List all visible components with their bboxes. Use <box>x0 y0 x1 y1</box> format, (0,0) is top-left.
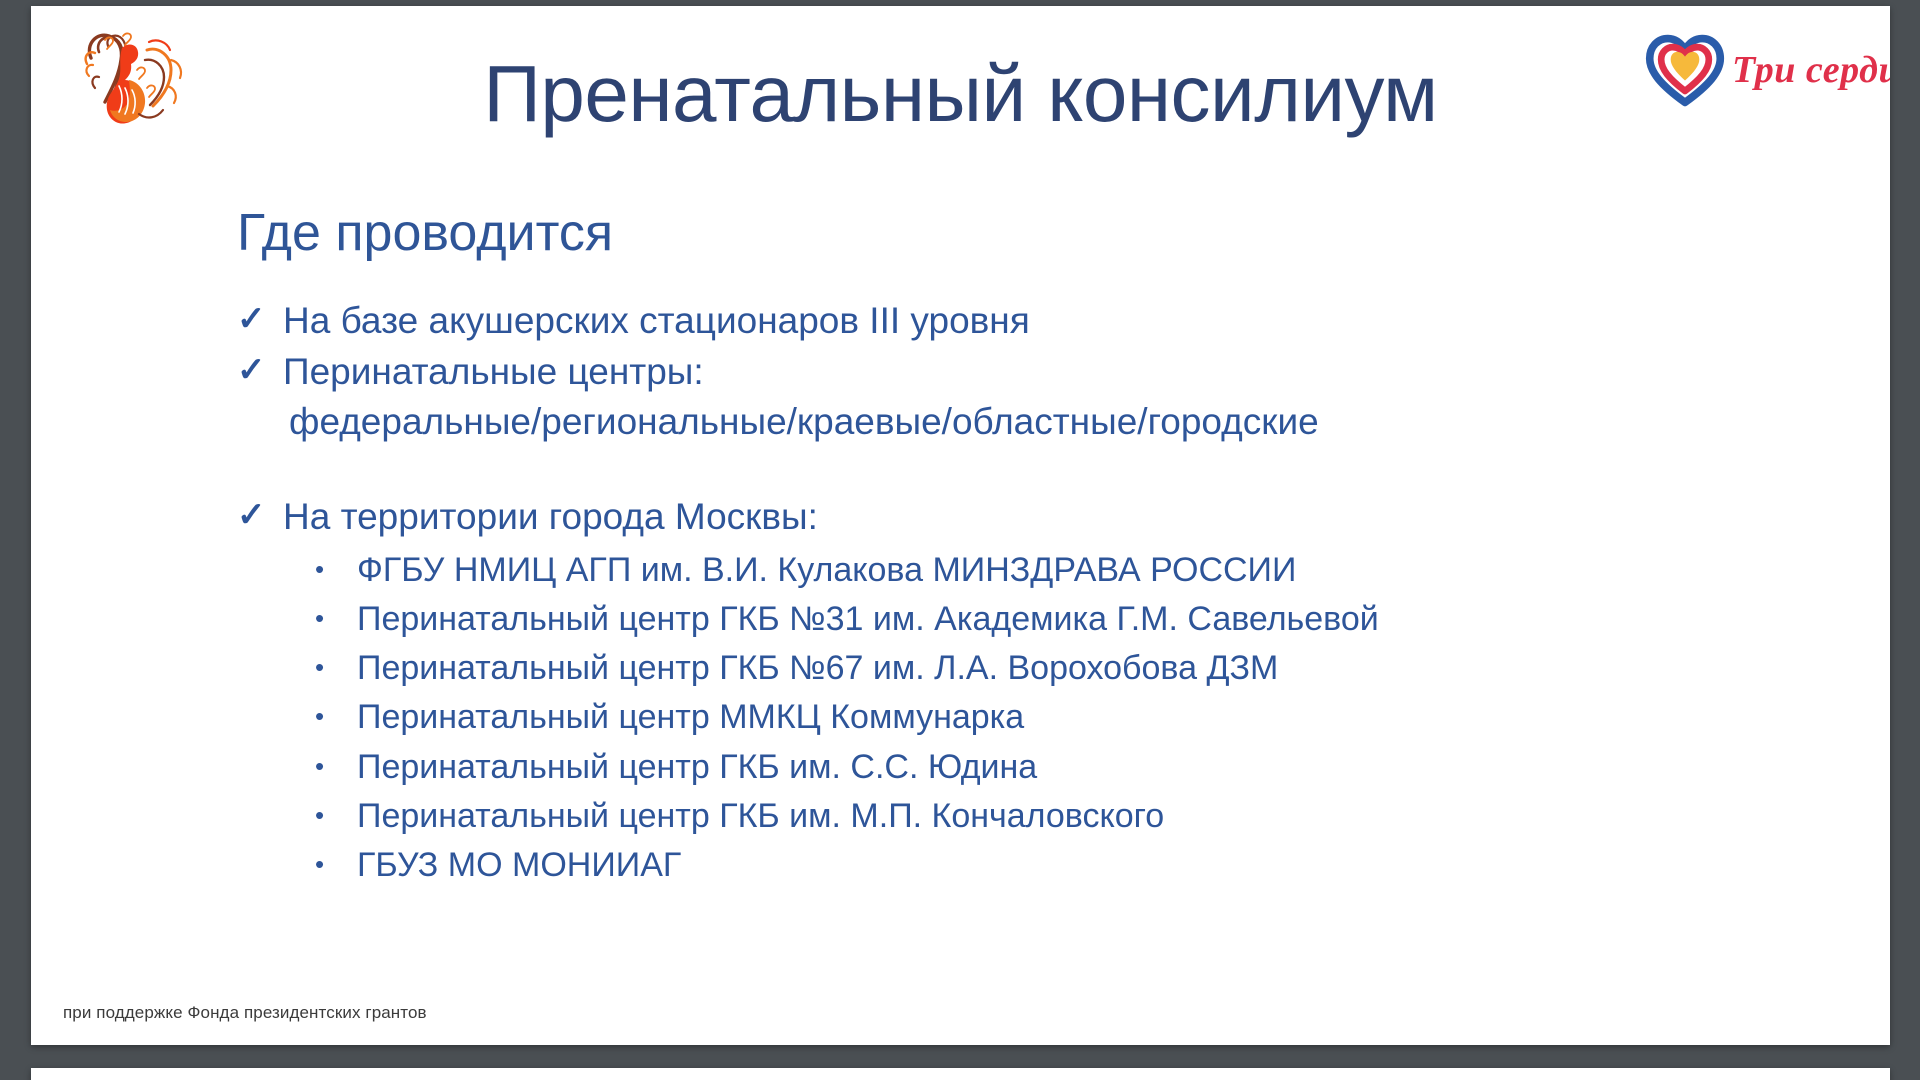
list-item: • ГБУЗ МО МОНИИАГ <box>237 842 1797 888</box>
slide-body: Где проводится ✓ На базе акушерских стац… <box>237 204 1797 891</box>
slide-viewer[interactable]: Три сердца Пренатальный консилиум Где пр… <box>0 0 1920 1080</box>
list-item: • Перинатальный центр ММКЦ Коммунарка <box>237 694 1797 740</box>
moscow-block: ✓ На территории города Москвы: • ФГБУ НМ… <box>237 494 1797 888</box>
list-item: ✓ На территории города Москвы: <box>237 494 1797 541</box>
moscow-institution-list: • ФГБУ НМИЦ АГП им. В.И. Кулакова МИНЗДР… <box>237 547 1797 889</box>
bullet-dot-icon: • <box>315 793 357 837</box>
section-heading: Где проводится <box>237 204 1797 262</box>
page-title: Пренатальный консилиум <box>31 52 1890 136</box>
list-item-label: Перинатальные центры: <box>283 349 1797 396</box>
list-item: • Перинатальный центр ГКБ им. С.С. Юдина <box>237 744 1797 790</box>
list-item-label: Перинатальный центр ГКБ №67 им. Л.А. Вор… <box>357 645 1797 691</box>
slide-footer: при поддержке Фонда президентских гранто… <box>63 1003 427 1023</box>
list-item: ✓ Перинатальные центры: <box>237 349 1797 396</box>
list-item-label: Перинатальный центр ММКЦ Коммунарка <box>357 694 1797 740</box>
list-item: • Перинатальный центр ГКБ №67 им. Л.А. В… <box>237 645 1797 691</box>
bullet-dot-icon: • <box>315 596 357 640</box>
list-item: • Перинатальный центр ГКБ им. М.П. Конча… <box>237 793 1797 839</box>
list-item-label: ГБУЗ МО МОНИИАГ <box>357 842 1797 888</box>
moscow-check-list: ✓ На территории города Москвы: <box>237 494 1797 541</box>
checkmark-icon: ✓ <box>237 349 283 392</box>
checkmark-icon: ✓ <box>237 494 283 537</box>
list-item: • Перинатальный центр ГКБ №31 им. Академ… <box>237 596 1797 642</box>
list-item: ✓ На базе акушерских стационаров III уро… <box>237 298 1797 345</box>
list-item-label: Перинатальный центр ГКБ им. М.П. Кончало… <box>357 793 1797 839</box>
bullet-dot-icon: • <box>315 645 357 689</box>
list-item-label: Перинатальный центр ГКБ им. С.С. Юдина <box>357 744 1797 790</box>
list-item-label: На базе акушерских стационаров III уровн… <box>283 298 1797 345</box>
list-item-label: Перинатальный центр ГКБ №31 им. Академик… <box>357 596 1797 642</box>
checkmark-icon: ✓ <box>237 298 283 341</box>
perinatal-centers-types: федеральные/региональные/краевые/областн… <box>289 399 1797 446</box>
list-item-label: На территории города Москвы: <box>283 494 1797 541</box>
bullet-dot-icon: • <box>315 694 357 738</box>
check-list: ✓ На базе акушерских стационаров III уро… <box>237 298 1797 395</box>
bullet-dot-icon: • <box>315 547 357 591</box>
slide-canvas: Три сердца Пренатальный консилиум Где пр… <box>31 6 1890 1045</box>
bullet-dot-icon: • <box>315 842 357 886</box>
bullet-dot-icon: • <box>315 744 357 788</box>
next-slide-preview[interactable] <box>31 1068 1890 1080</box>
list-item-label: ФГБУ НМИЦ АГП им. В.И. Кулакова МИНЗДРАВ… <box>357 547 1797 593</box>
list-item: • ФГБУ НМИЦ АГП им. В.И. Кулакова МИНЗДР… <box>237 547 1797 593</box>
